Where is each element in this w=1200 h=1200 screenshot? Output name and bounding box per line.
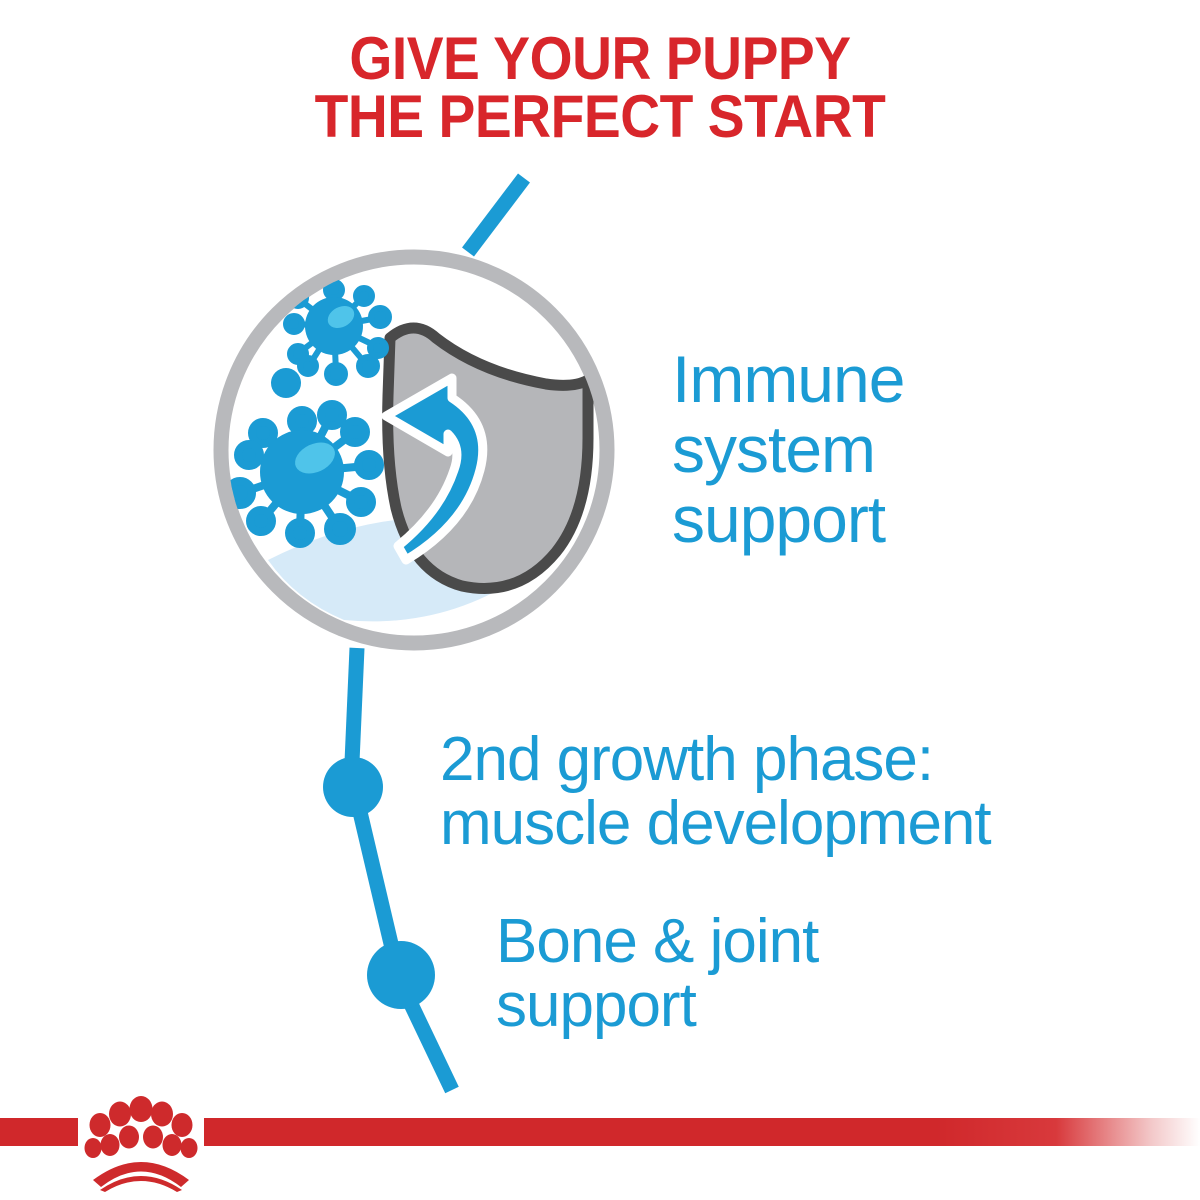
benefit-line: 2nd growth phase: bbox=[440, 728, 991, 792]
virus-icon bbox=[228, 404, 380, 544]
benefit-line: muscle development bbox=[440, 792, 991, 856]
benefit-line: support bbox=[672, 484, 904, 554]
puppy-benefits-panel: GIVE YOUR PUPPY THE PERFECT START bbox=[0, 0, 1200, 1200]
benefit-label-immune-system-support: Immune system support bbox=[672, 344, 904, 554]
benefit-line: support bbox=[496, 974, 818, 1038]
benefit-label-bone-joint-support: Bone & joint support bbox=[496, 910, 818, 1038]
benefit-line: system bbox=[672, 414, 904, 484]
royal-canin-crown-icon bbox=[78, 1096, 204, 1192]
connector-node-1 bbox=[323, 757, 383, 817]
connector-node-2 bbox=[367, 941, 435, 1009]
footer bbox=[0, 1118, 1200, 1200]
benefit-line: Bone & joint bbox=[496, 910, 818, 974]
benefit-label-second-growth-phase: 2nd growth phase: muscle development bbox=[440, 728, 991, 856]
virus-dot-icon bbox=[271, 368, 301, 398]
benefit-line: Immune bbox=[672, 344, 904, 414]
